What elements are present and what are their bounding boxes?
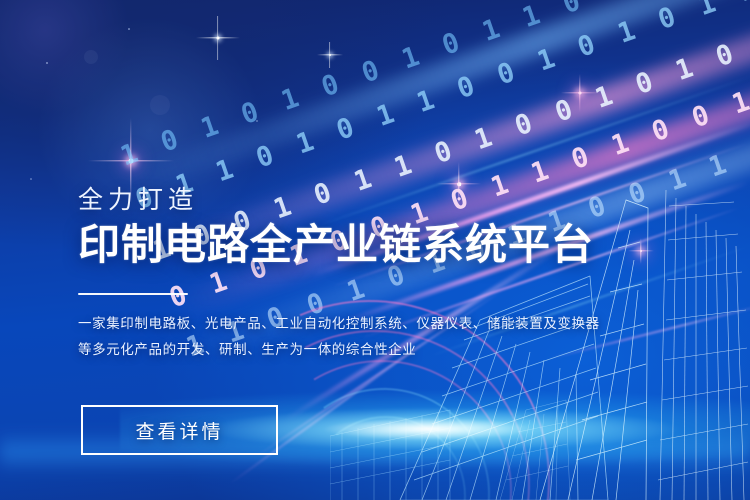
description-line-1: 一家集印制电路板、光电产品、工业自动化控制系统、仪器仪表、储能装置及变换器 bbox=[78, 311, 678, 337]
hero-banner: 1 0 1 0 1 0 0 1 0 1 1 0 0 1 0 1 0 1 1 0 … bbox=[0, 0, 750, 500]
view-details-button[interactable]: 查看详情 bbox=[81, 405, 278, 455]
title-divider bbox=[78, 293, 188, 295]
hero-eyebrow: 全力打造 bbox=[78, 186, 678, 215]
hero-content: 全力打造 印制电路全产业链系统平台 一家集印制电路板、光电产品、工业自动化控制系… bbox=[78, 186, 678, 363]
hero-description: 一家集印制电路板、光电产品、工业自动化控制系统、仪器仪表、储能装置及变换器 等多… bbox=[78, 311, 678, 364]
description-line-2: 等多元化产品的开发、研制、生产为一体的综合性企业 bbox=[78, 337, 678, 363]
page-title: 印制电路全产业链系统平台 bbox=[78, 221, 678, 269]
